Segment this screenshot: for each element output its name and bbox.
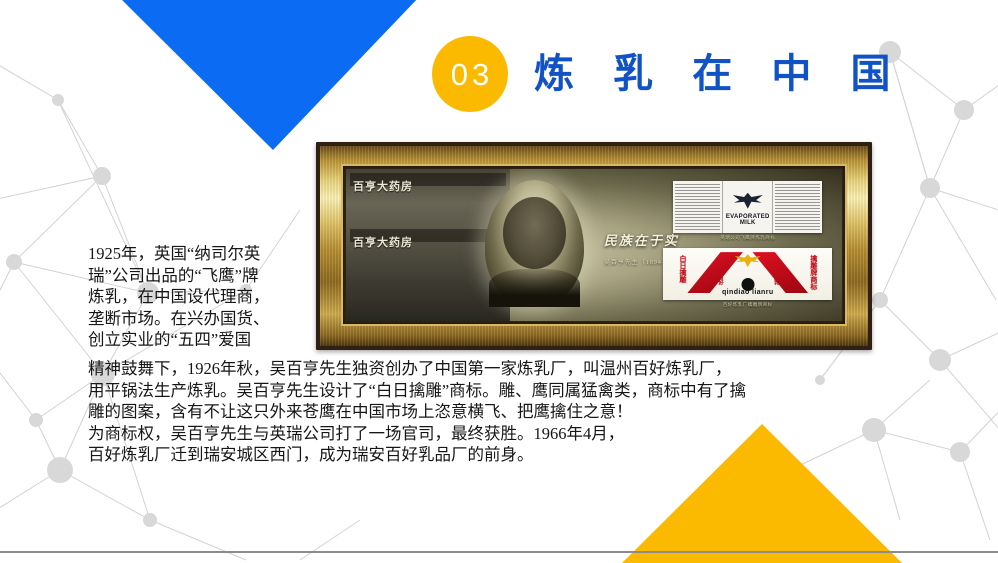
section-number-badge: 03 xyxy=(432,36,508,112)
building-sign-top: 百亨大药房 xyxy=(353,178,413,194)
portrait-oval xyxy=(485,180,584,308)
label-mid-left-chinese: 百好 xyxy=(717,275,722,285)
qindiao-lianru-label-caption: 百好炼乳厂擒雕牌商标 xyxy=(663,302,832,308)
portrait-body xyxy=(489,269,580,307)
label-column-left xyxy=(673,181,723,233)
slide-canvas: 03 炼 乳 在 中 国 百亨大药房 百亨大药房 民族在于实 吴百亨先生（189… xyxy=(0,0,998,563)
label-column-center: EVAPORATED MILK xyxy=(723,181,773,233)
evaporated-milk-text: EVAPORATED MILK xyxy=(723,214,772,226)
main-paragraph: 精神鼓舞下，1926年秋，吴百亨先生独资创办了中国第一家炼乳厂，叫温州百好炼乳厂… xyxy=(88,358,878,466)
page-title: 炼 乳 在 中 国 xyxy=(534,54,904,94)
label-right-chinese: 擒雕牌商标 xyxy=(810,255,817,290)
eagle-icon xyxy=(733,193,763,209)
bottom-divider xyxy=(0,551,998,553)
qindiao-lianru-label: 白日擒雕 擒雕牌商标 百好 炼乳 qindiao lianru xyxy=(663,248,832,300)
evaporated-milk-label: EVAPORATED MILK xyxy=(673,181,822,233)
qindiao-lianru-pinyin: qindiao lianru xyxy=(663,289,832,296)
photo-montage: 百亨大药房 百亨大药房 民族在于实 吴百亨先生（1894-1973） EVAPO… xyxy=(346,169,842,321)
portrait-face xyxy=(503,197,566,268)
framed-photograph: 百亨大药房 百亨大药房 民族在于实 吴百亨先生（1894-1973） EVAPO… xyxy=(316,142,872,350)
label-mid-right-chinese: 炼乳 xyxy=(773,275,778,285)
slide-header: 03 炼 乳 在 中 国 xyxy=(432,36,904,112)
label-column-right xyxy=(773,181,822,233)
building-sign-bottom: 百亨大药房 xyxy=(353,234,413,250)
intro-paragraph: 1925年，英国“纳司尔英 瑞”公司出品的“飞鹰”牌 炼乳，在中国设代理商， 垄… xyxy=(88,243,310,351)
evaporated-milk-label-caption: 英瑞公司飞鹰牌炼乳商标 xyxy=(673,235,822,241)
label-left-chinese: 白日擒雕 xyxy=(679,255,686,283)
calligraphy-text: 民族在于实 xyxy=(604,230,679,249)
